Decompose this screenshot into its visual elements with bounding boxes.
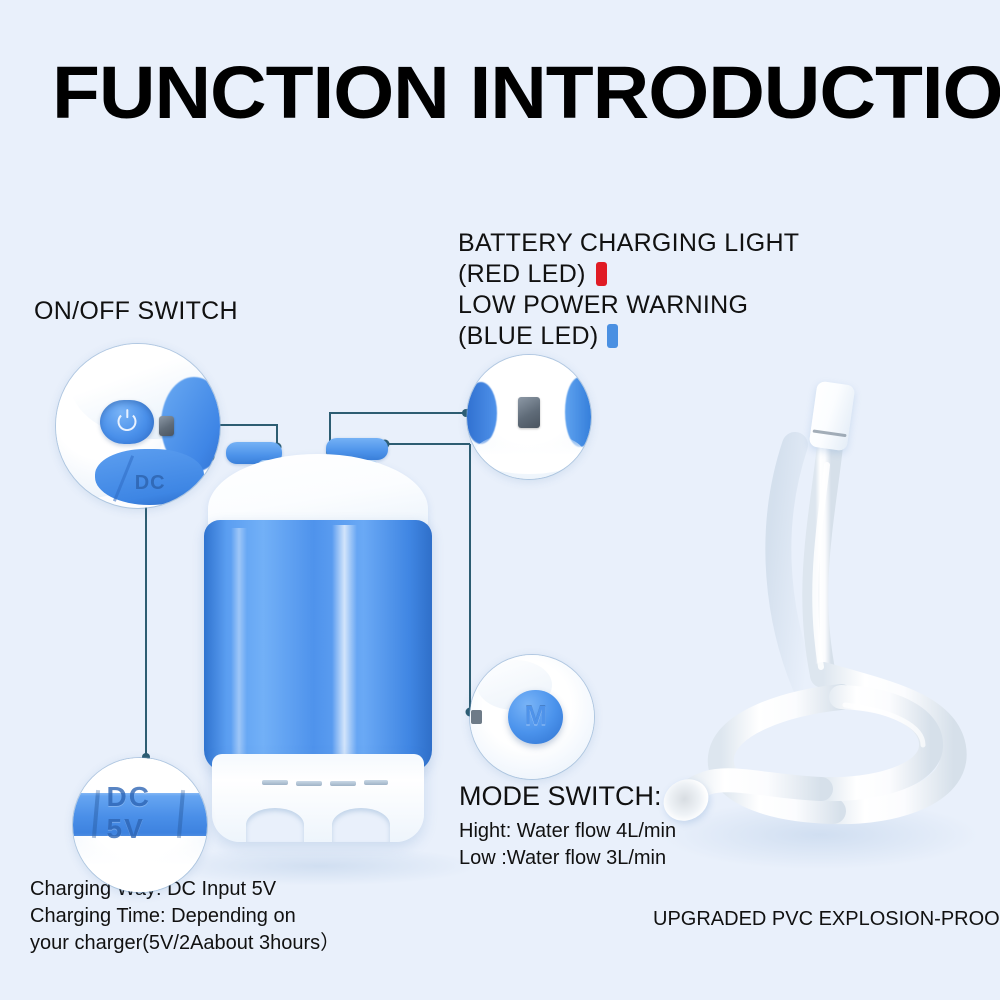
power-icon bbox=[118, 412, 137, 431]
portable-water-heater bbox=[198, 432, 438, 862]
hose-connector-ring bbox=[813, 429, 847, 437]
battery-light-annotation: BATTERY CHARGING LIGHT (RED LED) LOW POW… bbox=[458, 228, 799, 352]
mode-switch-high: Hight: Water flow 4L/min bbox=[459, 818, 676, 845]
led-callout-blue-left bbox=[467, 382, 497, 444]
led-callout-lip bbox=[474, 432, 583, 474]
mode-button[interactable]: M bbox=[508, 690, 563, 745]
product-base bbox=[212, 754, 424, 842]
mode-button-callout[interactable]: M bbox=[470, 655, 594, 779]
body-highlight-secondary bbox=[231, 528, 247, 760]
base-vent-4 bbox=[364, 780, 388, 785]
dc-callout-label: DC 5V bbox=[107, 781, 174, 845]
led-window-small bbox=[159, 416, 174, 436]
base-foot-right bbox=[332, 808, 390, 842]
mode-callout-nub bbox=[471, 710, 482, 725]
battery-light-line2: (RED LED) bbox=[458, 259, 799, 290]
battery-light-line4: (BLUE LED) bbox=[458, 321, 799, 352]
base-foot-left bbox=[246, 808, 304, 842]
infographic-canvas: FUNCTION INTRODUCTION ON/OFF SWITCH bbox=[0, 0, 1000, 1000]
dc-input-callout[interactable]: DC 5V bbox=[73, 758, 207, 892]
led-indicator-callout[interactable] bbox=[467, 355, 591, 479]
led-indicator-window bbox=[518, 397, 540, 428]
base-vent-2 bbox=[296, 781, 322, 786]
pvc-shower-hose bbox=[645, 375, 985, 865]
mode-switch-annotation: MODE SWITCH: Hight: Water flow 4L/min Lo… bbox=[459, 780, 676, 872]
base-vent-1 bbox=[262, 780, 288, 785]
charging-detail: your charger(5V/2Aabout 3hours） bbox=[30, 930, 340, 957]
blue-led-swatch bbox=[607, 324, 618, 348]
red-led-swatch bbox=[596, 262, 607, 286]
power-callout-inner: DC bbox=[56, 344, 220, 508]
hose-shadow bbox=[778, 445, 805, 685]
base-vent-3 bbox=[330, 781, 356, 786]
power-button-callout[interactable]: DC bbox=[56, 344, 220, 508]
battery-light-line1: BATTERY CHARGING LIGHT bbox=[458, 228, 799, 259]
mode-switch-heading: MODE SWITCH: bbox=[459, 780, 676, 813]
blue-led-text: (BLUE LED) bbox=[458, 322, 599, 350]
mode-switch-low: Low :Water flow 3L/min bbox=[459, 845, 676, 872]
on-off-switch-label: ON/OFF SWITCH bbox=[34, 296, 238, 327]
body-highlight-main bbox=[332, 525, 357, 762]
product-body bbox=[204, 520, 432, 772]
callout-dc-label: DC bbox=[135, 472, 166, 495]
hose-caption: UPGRADED PVC EXPLOSION-PROOF HOSE bbox=[653, 906, 1000, 933]
mode-callout-inner: M bbox=[470, 655, 594, 779]
battery-light-line3: LOW POWER WARNING bbox=[458, 290, 799, 321]
led-callout-inner bbox=[467, 355, 591, 479]
power-button[interactable] bbox=[100, 400, 154, 444]
red-led-text: (RED LED) bbox=[458, 260, 586, 288]
charging-time: Charging Time: Depending on bbox=[30, 903, 340, 930]
dc-callout-inner: DC 5V bbox=[73, 758, 207, 892]
page-title: FUNCTION INTRODUCTION bbox=[52, 52, 1000, 134]
mode-button-label: M bbox=[524, 700, 547, 731]
led-callout-blue-right bbox=[565, 377, 591, 446]
